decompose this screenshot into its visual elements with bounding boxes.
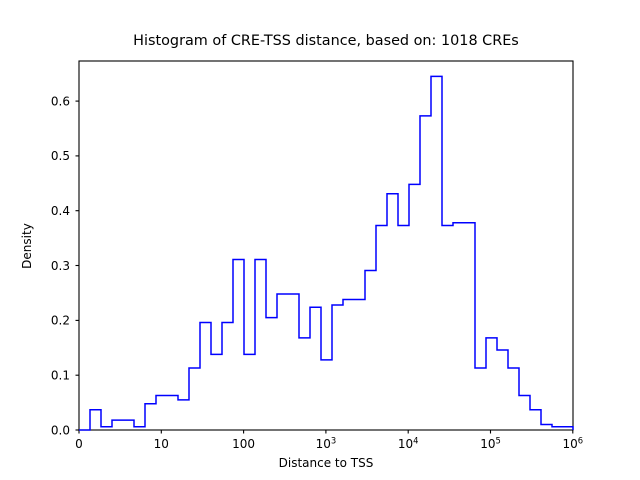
y-tick-label: 0.6 — [51, 94, 70, 108]
histogram-chart: Histogram of CRE-TSS distance, based on:… — [0, 0, 640, 480]
y-tick-label: 0.0 — [51, 423, 70, 437]
x-tick-label: 100 — [232, 437, 255, 451]
y-tick-label: 0.4 — [51, 204, 70, 218]
x-tick-label: 106 — [562, 436, 583, 452]
matplotlib-figure: Histogram of CRE-TSS distance, based on:… — [0, 0, 640, 480]
y-axis-label: Density — [20, 223, 34, 269]
chart-title: Histogram of CRE-TSS distance, based on:… — [133, 33, 519, 49]
axes-frame — [79, 61, 573, 430]
x-tick-label: 0 — [75, 437, 83, 451]
x-tick-label: 104 — [398, 436, 419, 452]
y-tick-label: 0.5 — [51, 149, 70, 163]
x-axis-ticks: 0 10 100 103 104 105 106 — [75, 430, 583, 451]
x-tick-label: 10 — [154, 437, 169, 451]
y-tick-label: 0.3 — [51, 259, 70, 273]
y-axis-ticks: 0.0 0.1 0.2 0.3 0.4 0.5 0.6 — [51, 94, 79, 437]
x-tick-label: 103 — [316, 436, 337, 452]
histogram-step-line — [79, 76, 573, 430]
x-tick-label: 105 — [480, 436, 501, 452]
y-tick-label: 0.1 — [51, 369, 70, 383]
x-axis-label: Distance to TSS — [279, 456, 374, 470]
y-tick-label: 0.2 — [51, 314, 70, 328]
